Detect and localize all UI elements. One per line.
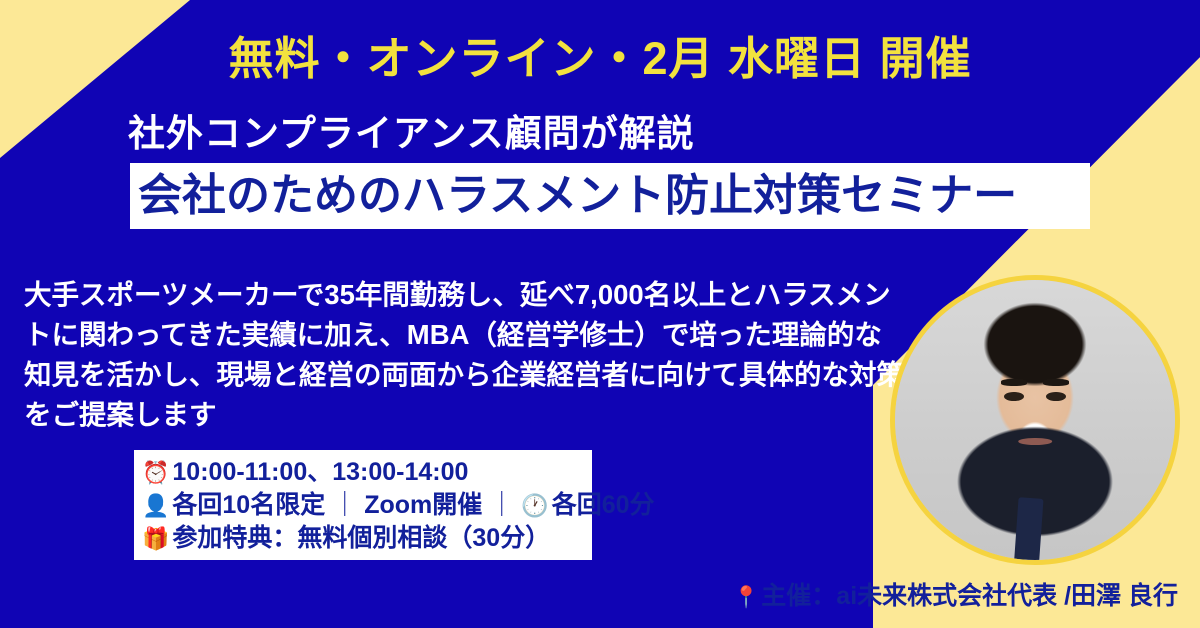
page-title: 会社のためのハラスメント防止対策セミナー bbox=[138, 174, 1017, 218]
clock-icon: 🕐 bbox=[521, 495, 548, 517]
portrait-mouth bbox=[1018, 438, 1052, 445]
seminar-poster: 無料・オンライン・2月 水曜日 開催 社外コンプライアンス顧問が解説 会社のため… bbox=[0, 0, 1200, 628]
detail-row-capacity: 👤 各回10名限定 ｜ Zoom開催 ｜ 🕐 各回60分 bbox=[142, 489, 592, 522]
portrait-eye-right bbox=[1046, 392, 1066, 401]
lead-paragraph: 大手スポーツメーカーで35年間勤務し、延べ7,000名以上とハラスメントに関わっ… bbox=[24, 275, 904, 435]
detail-platform-text: Zoom開催 bbox=[364, 489, 482, 522]
speaker-portrait bbox=[890, 275, 1180, 565]
detail-row-bonus: 🎁 参加特典：無料個別相談（30分） bbox=[142, 522, 592, 555]
subheadline: 社外コンプライアンス顧問が解説 bbox=[128, 103, 695, 157]
detail-duration-text: 各回60分 bbox=[552, 489, 655, 522]
details-box: ⏰ 10:00-11:00、13:00-14:00 👤 各回10名限定 ｜ Zo… bbox=[134, 450, 592, 560]
detail-capacity-text: 各回10名限定 bbox=[172, 489, 325, 522]
portrait-eye-left bbox=[1004, 392, 1024, 401]
portrait-photo bbox=[895, 280, 1175, 560]
lead-paragraph-block: 大手スポーツメーカーで35年間勤務し、延べ7,000名以上とハラスメントに関わっ… bbox=[24, 275, 904, 435]
detail-time-text: 10:00-11:00、13:00-14:00 bbox=[172, 456, 468, 489]
person-icon: 👤 bbox=[142, 495, 169, 517]
detail-row-time: ⏰ 10:00-11:00、13:00-14:00 bbox=[142, 456, 592, 489]
portrait-brow-right bbox=[1043, 379, 1068, 385]
organizer-credit: 📍主催：ai未来株式会社代表 /田澤 良行 bbox=[733, 576, 1178, 612]
location-pin-icon: 📍 bbox=[733, 586, 759, 609]
title-bar: 会社のためのハラスメント防止対策セミナー bbox=[130, 163, 1090, 229]
detail-separator-2: ｜ bbox=[489, 489, 514, 522]
portrait-brow-left bbox=[1001, 379, 1026, 385]
detail-bonus-text: 参加特典：無料個別相談（30分） bbox=[172, 522, 550, 555]
banner-headline: 無料・オンライン・2月 水曜日 開催 bbox=[0, 22, 1200, 87]
gift-icon: 🎁 bbox=[142, 528, 169, 550]
detail-separator-1: ｜ bbox=[332, 489, 357, 522]
portrait-necktie bbox=[1015, 498, 1044, 560]
alarm-clock-icon: ⏰ bbox=[142, 462, 169, 484]
organizer-credit-text: 主催：ai未来株式会社代表 /田澤 良行 bbox=[761, 582, 1178, 610]
